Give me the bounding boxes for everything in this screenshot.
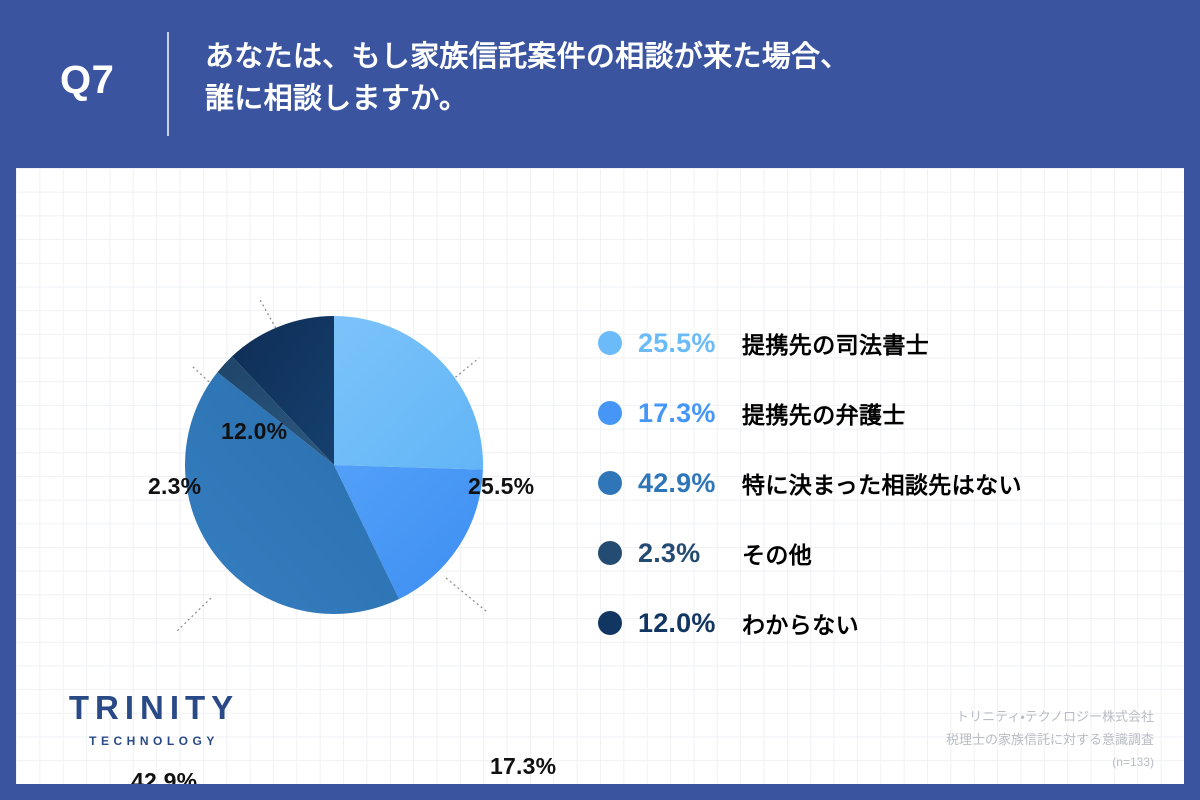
- header-divider: [167, 32, 169, 136]
- legend-percent: 2.3%: [638, 538, 742, 569]
- legend-label: 提携先の弁護士: [742, 396, 906, 430]
- header-banner: Q7 あなたは、もし家族信託案件の相談が来た場合、 誰に相談しますか。: [0, 0, 1200, 168]
- pie-value-label-0: 25.5%: [468, 473, 534, 500]
- legend-color-swatch-icon: [598, 331, 622, 355]
- question-title: あなたは、もし家族信託案件の相談が来た場合、 誰に相談しますか。: [205, 36, 1155, 120]
- attribution-sample-size: (n=133): [946, 752, 1154, 773]
- content-card: 25.5% 17.3% 42.9% 2.3% 12.0% 25.5% 提携先の司…: [16, 168, 1184, 784]
- legend-percent: 42.9%: [638, 468, 742, 499]
- question-number: Q7: [60, 60, 170, 100]
- legend-item[interactable]: 2.3% その他: [598, 518, 1168, 588]
- legend-percent: 17.3%: [638, 398, 742, 429]
- legend-item[interactable]: 25.5% 提携先の司法書士: [598, 308, 1168, 378]
- legend-color-swatch-icon: [598, 401, 622, 425]
- pie-chart: [185, 316, 483, 614]
- chart-legend: 25.5% 提携先の司法書士 17.3% 提携先の弁護士 42.9% 特に決まっ…: [598, 308, 1168, 658]
- legend-label: 提携先の司法書士: [742, 326, 929, 360]
- slide-root: Q7 あなたは、もし家族信託案件の相談が来た場合、 誰に相談しますか。: [0, 0, 1200, 800]
- logo-tagline: TECHNOLOGY: [44, 734, 264, 748]
- legend-item[interactable]: 12.0% わからない: [598, 588, 1168, 658]
- attribution-company: トリニティ・テクノロジー株式会社: [946, 706, 1154, 729]
- logo-wordmark: TRINITY: [44, 690, 264, 726]
- legend-label: 特に決まった相談先はない: [742, 466, 1022, 500]
- company-logo: TRINITY TECHNOLOGY: [44, 690, 264, 748]
- question-title-line-2: 誰に相談しますか。: [205, 78, 1155, 120]
- legend-percent: 25.5%: [638, 328, 742, 359]
- legend-color-swatch-icon: [598, 611, 622, 635]
- legend-item[interactable]: 17.3% 提携先の弁護士: [598, 378, 1168, 448]
- attribution-block: トリニティ・テクノロジー株式会社 税理士の家族信託に対する意識調査 (n=133…: [946, 706, 1154, 773]
- legend-label: その他: [742, 536, 812, 570]
- pie-slice[interactable]: [334, 316, 483, 470]
- attribution-survey: 税理士の家族信託に対する意識調査: [946, 729, 1154, 752]
- pie-value-label-4: 12.0%: [221, 418, 287, 445]
- legend-item[interactable]: 42.9% 特に決まった相談先はない: [598, 448, 1168, 518]
- legend-color-swatch-icon: [598, 541, 622, 565]
- pie-value-label-3: 2.3%: [148, 473, 201, 500]
- pie-slices: [185, 316, 483, 614]
- pie-chart-svg: [185, 316, 483, 614]
- legend-percent: 12.0%: [638, 608, 742, 639]
- pie-value-label-2: 42.9%: [131, 768, 197, 784]
- legend-label: わからない: [742, 606, 859, 640]
- legend-color-swatch-icon: [598, 471, 622, 495]
- pie-value-label-1: 17.3%: [490, 753, 556, 780]
- question-title-line-1: あなたは、もし家族信託案件の相談が来た場合、: [205, 36, 1155, 78]
